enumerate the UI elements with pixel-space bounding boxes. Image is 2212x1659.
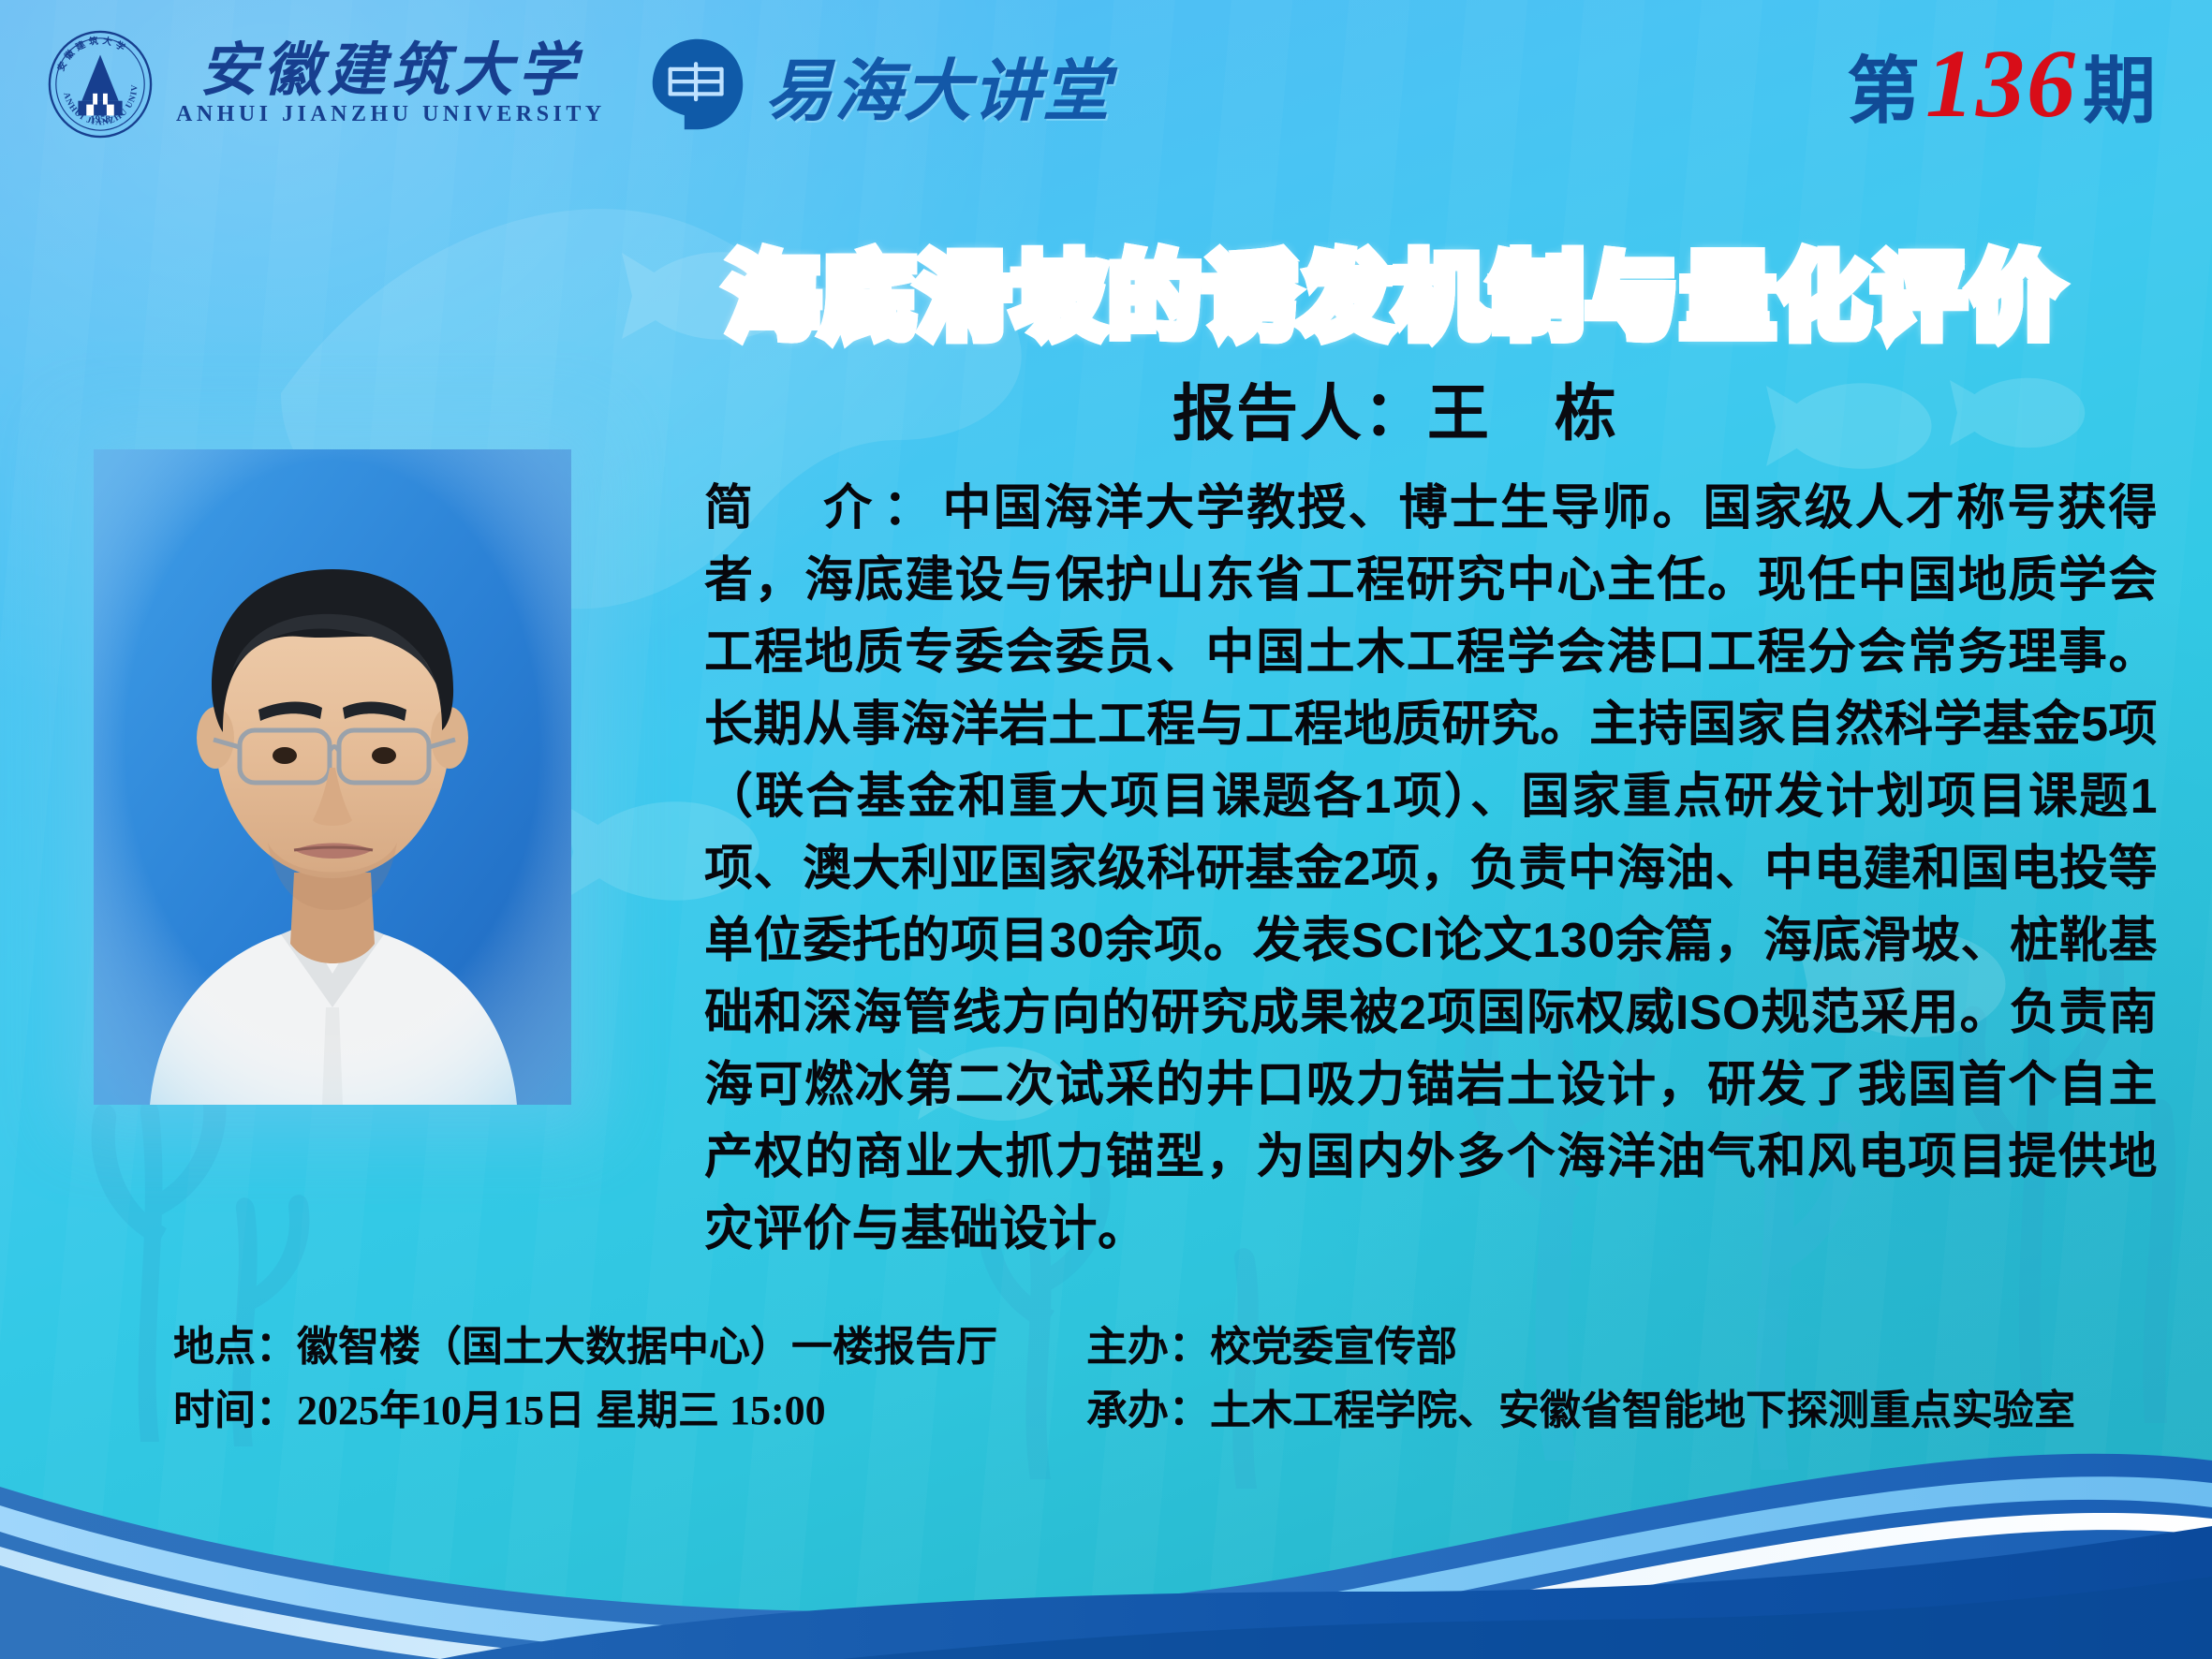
- bottom-wave-decoration: [0, 0, 2212, 1659]
- lecture-poster: 1958 ANHUI JIANZHU UNIVERSITY 安徽建筑大学 安徽建…: [0, 0, 2212, 1659]
